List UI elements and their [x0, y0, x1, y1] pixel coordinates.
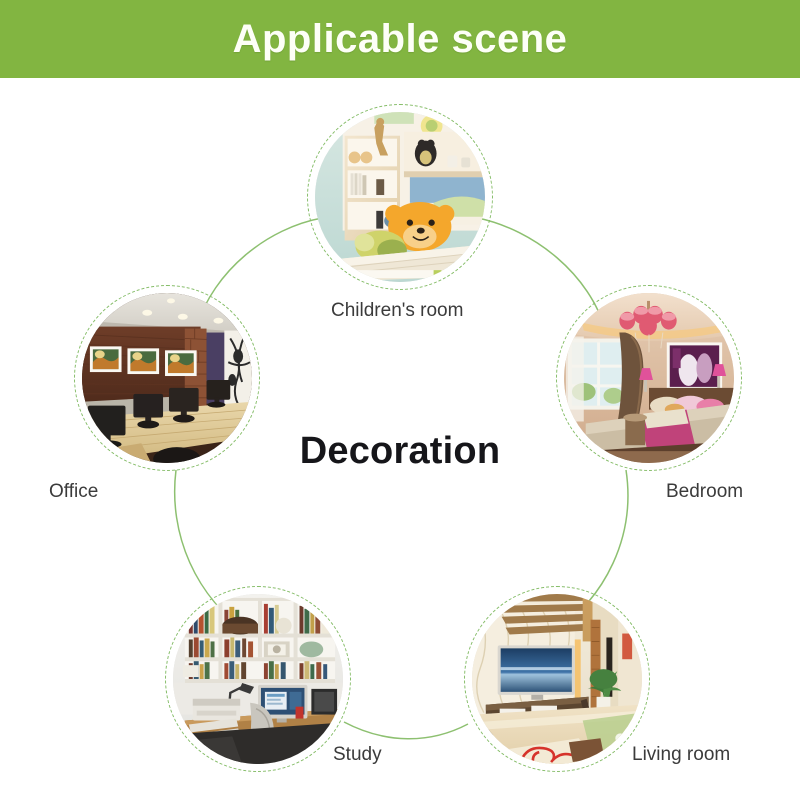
node-living-room-circle: [464, 586, 650, 772]
node-label-bedroom: Bedroom: [666, 481, 743, 503]
node-label-office: Office: [49, 481, 98, 503]
connector-study-living: [344, 722, 468, 739]
node-label-children-room: Children's room: [331, 300, 463, 322]
node-children-room-circle: [307, 104, 493, 290]
photo-study: [173, 594, 343, 764]
photo-children-room: [315, 112, 485, 282]
node-study-circle: [165, 586, 351, 772]
node-label-living-room: Living room: [632, 744, 730, 766]
applicable-scene-infographic: Applicable scene: [0, 0, 800, 800]
header-banner: Applicable scene: [0, 0, 800, 78]
scene-diagram: Children's room: [0, 78, 800, 800]
node-study[interactable]: Study: [165, 586, 351, 772]
photo-living-room: [472, 594, 642, 764]
node-children-room[interactable]: Children's room: [307, 104, 493, 290]
node-living-room[interactable]: Living room: [464, 586, 650, 772]
page-title: Applicable scene: [233, 17, 568, 62]
center-caption: Decoration: [0, 430, 800, 473]
node-label-study: Study: [333, 744, 382, 766]
